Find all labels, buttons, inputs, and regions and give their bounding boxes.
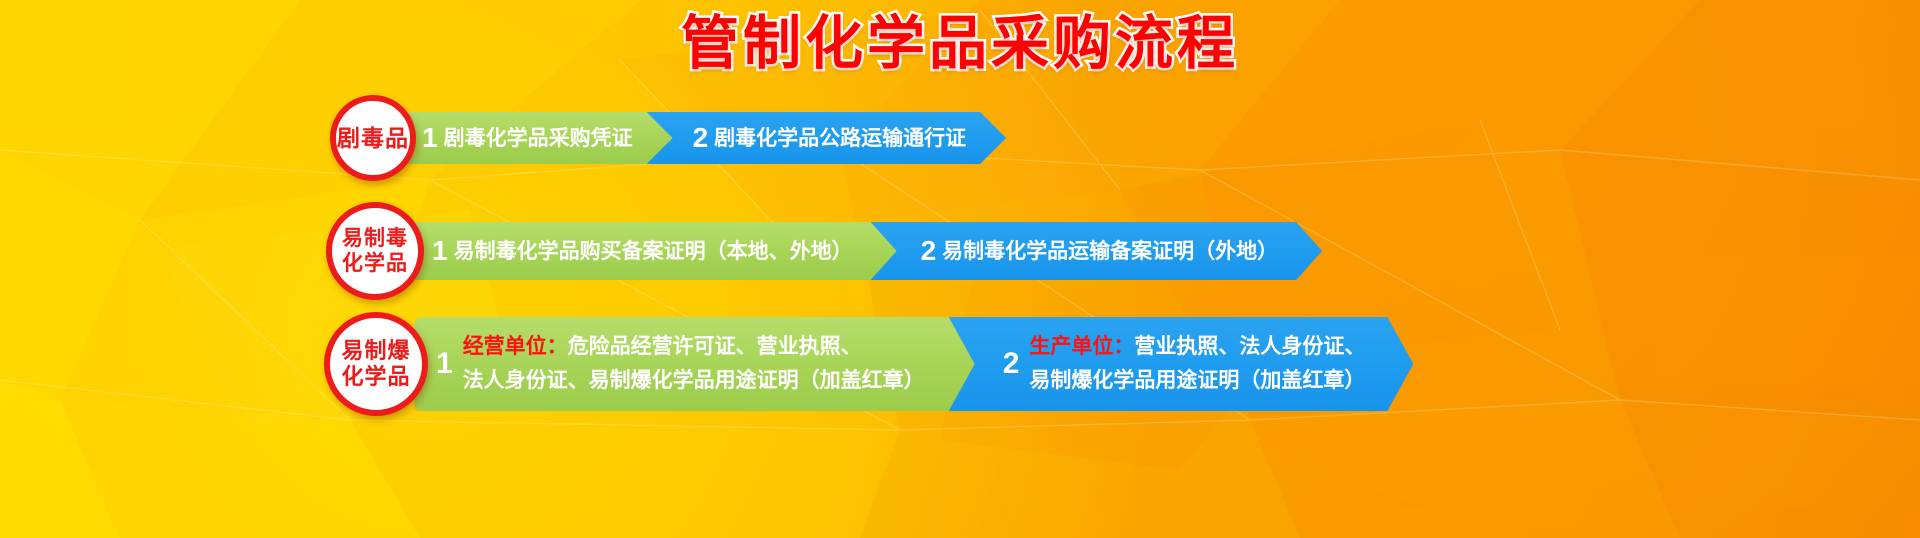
step-1-2-number: 2 xyxy=(693,124,709,152)
step-3-2-number: 2 xyxy=(1003,349,1020,379)
step-1-1-label: 剧毒化学品采购凭证 xyxy=(444,125,633,152)
flow-row-2: 易制毒 化学品 1 易制毒化学品购买备案证明（本地、外地） 2 易制毒化学品运输… xyxy=(0,212,1920,290)
step-3-1-label: 经营单位：危险品经营许可证、营业执照、 法人身份证、易制爆化学品用途证明（加盖红… xyxy=(463,330,925,398)
page-title: 管制化学品采购流程 xyxy=(0,8,1920,80)
poster-canvas: 管制化学品采购流程 剧毒品 1 剧毒化学品采购凭证 2 剧毒化学品公路运输通行证… xyxy=(0,0,1920,538)
category-badge-2: 易制毒 化学品 xyxy=(326,202,424,300)
step-1-1[interactable]: 1 剧毒化学品采购凭证 xyxy=(402,112,673,164)
step-3-1-text-1: 危险品经营许可证、营业执照、 xyxy=(568,335,862,358)
step-2-1-label: 易制毒化学品购买备案证明（本地、外地） xyxy=(454,238,853,265)
step-3-2-line-1: 生产单位：营业执照、法人身份证、 xyxy=(1029,335,1365,358)
page-title-text: 管制化学品采购流程 xyxy=(681,11,1239,76)
category-badge-3-line-1: 易制爆 xyxy=(341,338,410,364)
step-3-1-number: 1 xyxy=(436,349,453,379)
flow-steps-1: 1 剧毒化学品采购凭证 2 剧毒化学品公路运输通行证 xyxy=(402,112,1006,164)
flow-row-3: 易制爆 化学品 1 经营单位：危险品经营许可证、营业执照、 法人身份证、易制爆化… xyxy=(0,310,1920,418)
step-1-2-label: 剧毒化学品公路运输通行证 xyxy=(714,125,966,152)
category-badge-2-line-1: 易制毒 xyxy=(342,226,408,251)
step-3-2-text-1: 营业执照、法人身份证、 xyxy=(1134,335,1365,358)
step-3-2[interactable]: 2 生产单位：营业执照、法人身份证、 易制爆化学品用途证明（加盖红章） xyxy=(949,317,1414,411)
step-3-1[interactable]: 1 经营单位：危险品经营许可证、营业执照、 法人身份证、易制爆化学品用途证明（加… xyxy=(414,317,975,411)
step-2-2-number: 2 xyxy=(921,237,937,265)
flow-row-1: 剧毒品 1 剧毒化学品采购凭证 2 剧毒化学品公路运输通行证 xyxy=(0,104,1920,172)
flow-steps-2: 1 易制毒化学品购买备案证明（本地、外地） 2 易制毒化学品运输备案证明（外地） xyxy=(410,222,1322,280)
step-3-2-line-2: 易制爆化学品用途证明（加盖红章） xyxy=(1029,364,1365,398)
step-3-1-line-2: 法人身份证、易制爆化学品用途证明（加盖红章） xyxy=(463,364,925,398)
step-2-2[interactable]: 2 易制毒化学品运输备案证明（外地） xyxy=(871,222,1323,280)
step-2-1[interactable]: 1 易制毒化学品购买备案证明（本地、外地） xyxy=(410,222,897,280)
step-1-1-number: 1 xyxy=(422,124,438,152)
category-badge-1: 剧毒品 xyxy=(330,95,416,181)
step-3-2-prefix: 生产单位： xyxy=(1029,335,1134,358)
step-3-2-label: 生产单位：营业执照、法人身份证、 易制爆化学品用途证明（加盖红章） xyxy=(1029,330,1365,398)
step-3-1-prefix: 经营单位： xyxy=(463,335,568,358)
step-2-1-number: 1 xyxy=(432,237,448,265)
flow-steps-3: 1 经营单位：危险品经营许可证、营业执照、 法人身份证、易制爆化学品用途证明（加… xyxy=(414,317,1413,411)
step-2-2-label: 易制毒化学品运输备案证明（外地） xyxy=(942,238,1278,265)
step-1-2[interactable]: 2 剧毒化学品公路运输通行证 xyxy=(647,112,1007,164)
category-badge-1-line-1: 剧毒品 xyxy=(337,125,409,151)
step-3-1-line-1: 经营单位：危险品经营许可证、营业执照、 xyxy=(463,335,862,358)
category-badge-2-line-2: 化学品 xyxy=(342,251,408,276)
category-badge-3-line-2: 化学品 xyxy=(341,364,410,390)
category-badge-3: 易制爆 化学品 xyxy=(324,312,428,416)
